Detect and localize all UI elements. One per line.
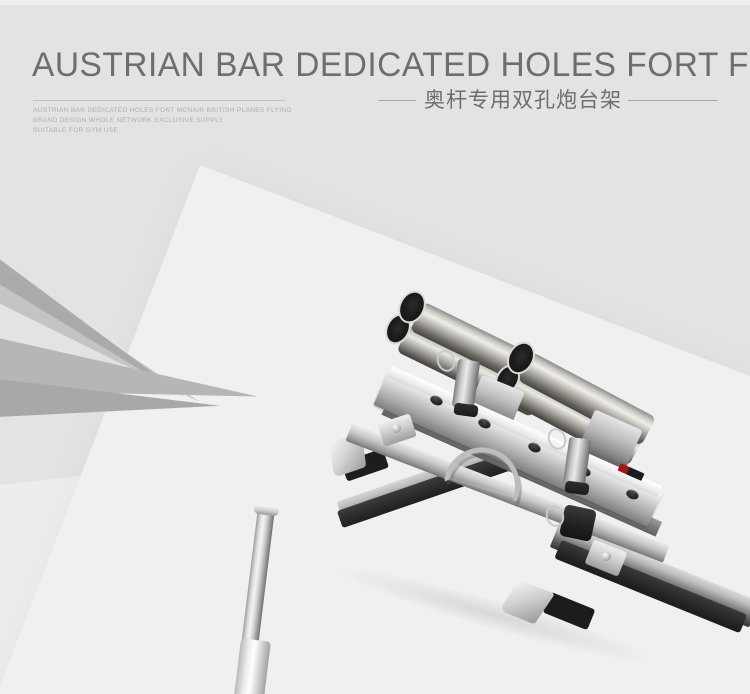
subtitle-rule-left: [378, 100, 416, 101]
tagline-block: AUSTRIAN BAR DEDICATED HOLES FORT MCNAIR…: [33, 106, 292, 136]
bolt-left: [392, 424, 401, 433]
subtitle-chinese: 奥杆专用双孔炮台架: [424, 86, 622, 114]
product-banner: AUSTRIAN BAR DEDICATED HOLES FORT FRAME …: [0, 0, 750, 694]
page-title: AUSTRIAN BAR DEDICATED HOLES FORT FRAME: [32, 46, 750, 84]
tagline-line-2: BRAND DESIGN WHOLE NETWORK EXCLUSIVE SUP…: [33, 116, 292, 126]
barbell-rod-sleeve: [234, 638, 271, 694]
tagline-line-3: SUITABLE FOR GYM USE: [33, 126, 292, 136]
subtitle-rule-right: [628, 100, 718, 101]
tagline-divider: [33, 100, 285, 101]
tagline-line-1: AUSTRIAN BAR DEDICATED HOLES FORT MCNAIR…: [33, 106, 292, 116]
lower-lock-knob: [559, 504, 597, 542]
bolt-right: [602, 552, 611, 561]
